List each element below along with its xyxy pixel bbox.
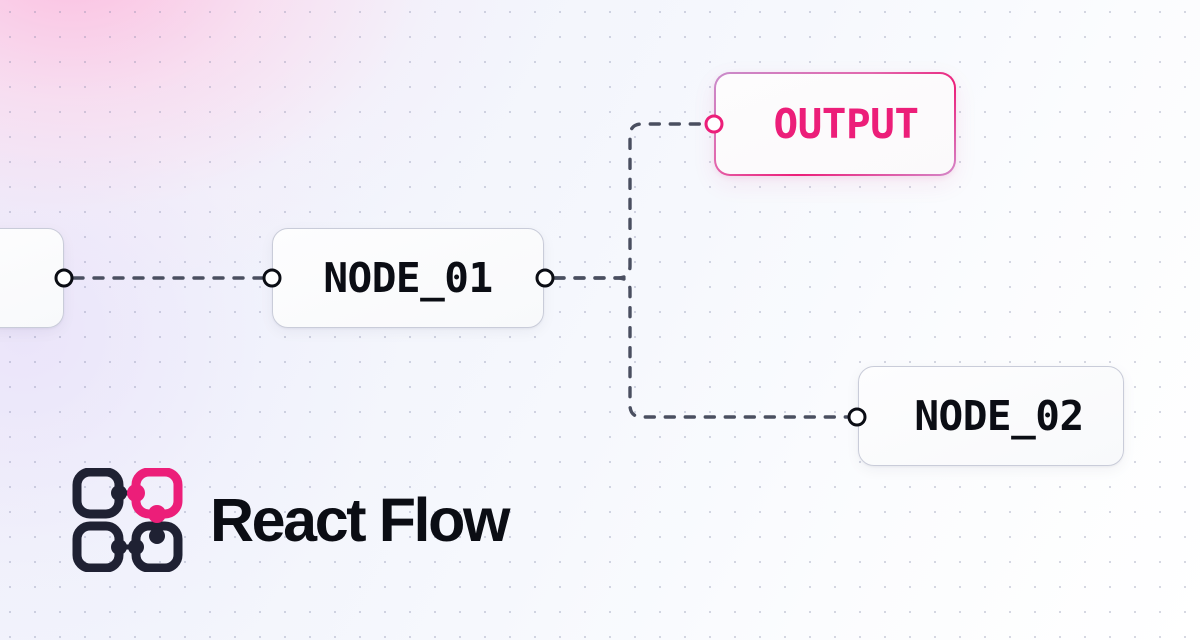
logo-dot-bottom-right-target: [149, 528, 165, 544]
logo-dot-top-right-target: [127, 484, 145, 502]
brand-lockup[interactable]: React Flow: [72, 468, 508, 572]
logo-dot-top-right-source: [148, 505, 166, 523]
node-output[interactable]: OUTPUT: [714, 72, 956, 176]
edge-node-01-to-output: [555, 124, 704, 278]
edge-node-01-to-node-02: [555, 278, 847, 417]
node-01[interactable]: NODE_01: [272, 228, 544, 328]
node-output-label: OUTPUT: [773, 100, 918, 148]
logo-dot-bottom-right-left: [128, 539, 144, 555]
logo-dot-bottom-left-source: [111, 539, 127, 555]
react-flow-logo: [72, 468, 184, 572]
react-flow-canvas[interactable]: NODE_01 OUTPUT NODE_02: [0, 0, 1200, 640]
brand-wordmark: React Flow: [210, 490, 508, 551]
handle-upstream-source[interactable]: [55, 269, 74, 288]
logo-dot-top-left-source: [111, 485, 127, 501]
node-01-label: NODE_01: [323, 254, 492, 302]
node-02-label: NODE_02: [914, 392, 1083, 440]
handle-output-target[interactable]: [705, 115, 724, 134]
node-02[interactable]: NODE_02: [858, 366, 1124, 466]
handle-node-01-target[interactable]: [263, 269, 282, 288]
handle-node-01-source[interactable]: [536, 269, 555, 288]
handle-node-02-target[interactable]: [848, 408, 867, 427]
